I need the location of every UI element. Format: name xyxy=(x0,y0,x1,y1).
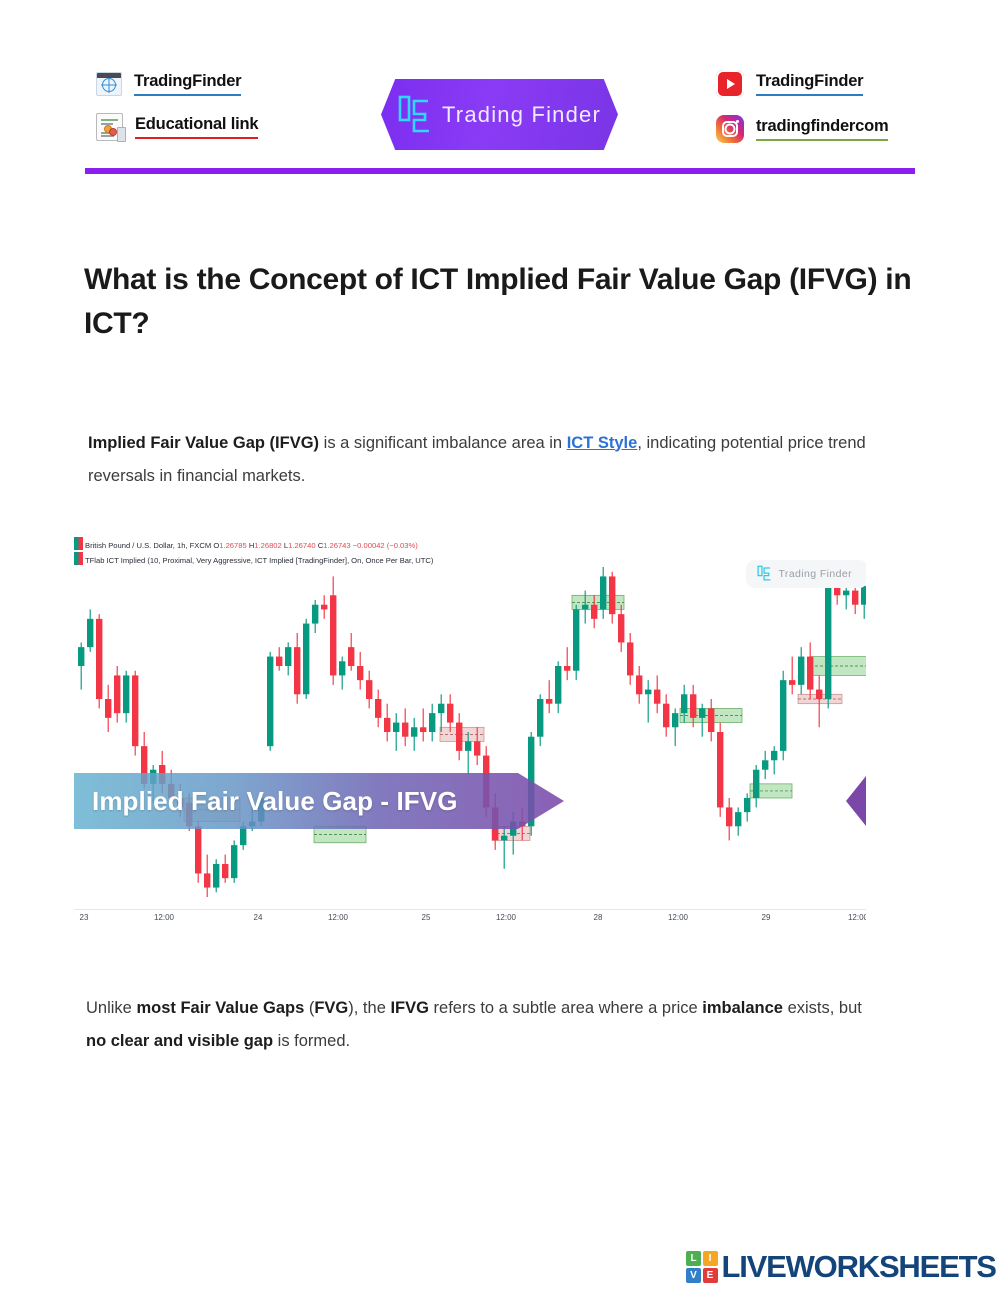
header-link-tradingfinder-web[interactable]: TradingFinder xyxy=(96,72,396,96)
header-link-label: Educational link xyxy=(135,115,258,139)
x-axis-tick: 12:00 xyxy=(154,913,174,920)
page-title: What is the Concept of ICT Implied Fair … xyxy=(84,258,924,345)
ict-style-link[interactable]: ICT Style xyxy=(567,434,638,452)
p2-seg4: refers to a subtle area where a price xyxy=(429,999,702,1017)
x-axis-tick: 23 xyxy=(80,913,89,920)
liveworksheets-tile: E xyxy=(703,1268,718,1283)
x-axis-tick: 28 xyxy=(594,913,603,920)
x-axis-tick: 24 xyxy=(254,913,263,920)
liveworksheets-tile: I xyxy=(703,1251,718,1266)
liveworksheets-logo[interactable]: LIVE LIVEWORKSHEETS xyxy=(686,1249,996,1285)
document-icon xyxy=(96,113,123,141)
ifvg-ribbon-banner: Implied Fair Value Gap - IFVG xyxy=(74,773,564,829)
ohlc-change-pct: (−0.03%) xyxy=(387,541,418,550)
liveworksheets-tile: V xyxy=(686,1268,701,1283)
candlestick-series xyxy=(74,557,866,909)
p2-seg3: ), the xyxy=(348,999,390,1017)
p2-bold2: FVG xyxy=(314,999,348,1017)
header-link-instagram[interactable]: tradingfindercom xyxy=(716,115,986,143)
p2-seg2: ( xyxy=(304,999,314,1017)
intro-paragraph: Implied Fair Value Gap (IFVG) is a signi… xyxy=(88,427,888,495)
header-right-links: TradingFinder tradingfindercom xyxy=(716,70,986,160)
trading-finder-logo[interactable]: Trading Finder xyxy=(381,79,618,150)
header-link-label: tradingfindercom xyxy=(756,117,888,141)
trading-finder-mark-icon xyxy=(398,95,432,135)
ohlc-change: −0.00042 xyxy=(353,541,385,550)
x-axis-tick: 29 xyxy=(762,913,771,920)
p2-seg5: exists, but xyxy=(783,999,862,1017)
chart-header-info: British Pound / U.S. Dollar, 1h, FXCM O1… xyxy=(74,537,433,566)
chart-watermark-text: Trading Finder xyxy=(779,568,853,580)
globe-icon xyxy=(96,72,122,96)
x-axis-tick: 12:00 xyxy=(496,913,516,920)
tradingview-chart[interactable]: British Pound / U.S. Dollar, 1h, FXCM O1… xyxy=(66,535,866,920)
chart-watermark: Trading Finder xyxy=(746,560,867,588)
page-header: TradingFinder Educational link Trading F… xyxy=(0,0,1000,182)
liveworksheets-tiles-icon: LIVE xyxy=(686,1251,718,1283)
p2-bold3: IFVG xyxy=(390,999,429,1017)
trading-finder-logo-text: Trading Finder xyxy=(442,102,601,128)
ohlc-open-value: 1.26785 xyxy=(219,541,246,550)
ifvg-ribbon-label: Implied Fair Value Gap - IFVG xyxy=(74,786,458,817)
x-axis-tick: 12:00 xyxy=(848,913,866,920)
p2-seg1: Unlike xyxy=(86,999,136,1017)
liveworksheets-tile: L xyxy=(686,1251,701,1266)
trading-finder-mark-icon xyxy=(757,565,772,582)
p2-bold1: most Fair Value Gaps xyxy=(136,999,304,1017)
instagram-icon xyxy=(716,115,744,143)
indicator-legend-icon xyxy=(74,552,83,565)
chart-x-axis: 2312:002412:002512:002812:002912:00 xyxy=(74,909,866,920)
p2-bold5: no clear and visible gap xyxy=(86,1032,273,1050)
ohlc-high-value: 1.26802 xyxy=(254,541,281,550)
chart-plot-area: Trading Finder Implied Fair Value Gap - … xyxy=(74,557,866,917)
candle-legend-icon xyxy=(74,537,83,550)
ohlc-close-value: 1.26743 xyxy=(323,541,350,550)
header-link-educational[interactable]: Educational link xyxy=(96,113,396,141)
header-link-label: TradingFinder xyxy=(756,72,863,96)
p2-seg6: is formed. xyxy=(273,1032,350,1050)
chart-indicator-row: TFlab ICT Implied (10, Proximal, Very Ag… xyxy=(74,552,433,567)
x-axis-tick: 12:00 xyxy=(668,913,688,920)
header-left-links: TradingFinder Educational link xyxy=(96,72,396,158)
header-divider xyxy=(85,168,915,174)
explanation-paragraph: Unlike most Fair Value Gaps (FVG), the I… xyxy=(86,992,886,1060)
p2-bold4: imbalance xyxy=(702,999,783,1017)
x-axis-tick: 25 xyxy=(422,913,431,920)
chart-symbol: British Pound / U.S. Dollar, 1h, FXCM xyxy=(85,541,211,550)
chart-symbol-row: British Pound / U.S. Dollar, 1h, FXCM O1… xyxy=(74,537,433,552)
header-link-label: TradingFinder xyxy=(134,72,241,96)
intro-bold-lead: Implied Fair Value Gap (IFVG) xyxy=(88,434,319,452)
ohlc-low-value: 1.26740 xyxy=(288,541,315,550)
chart-indicator-label: TFlab ICT Implied (10, Proximal, Very Ag… xyxy=(85,556,433,565)
liveworksheets-wordmark: LIVEWORKSHEETS xyxy=(722,1249,996,1285)
intro-mid: is a significant imbalance area in xyxy=(319,434,567,452)
x-axis-tick: 12:00 xyxy=(328,913,348,920)
youtube-icon xyxy=(716,70,744,98)
header-link-youtube[interactable]: TradingFinder xyxy=(716,70,986,98)
